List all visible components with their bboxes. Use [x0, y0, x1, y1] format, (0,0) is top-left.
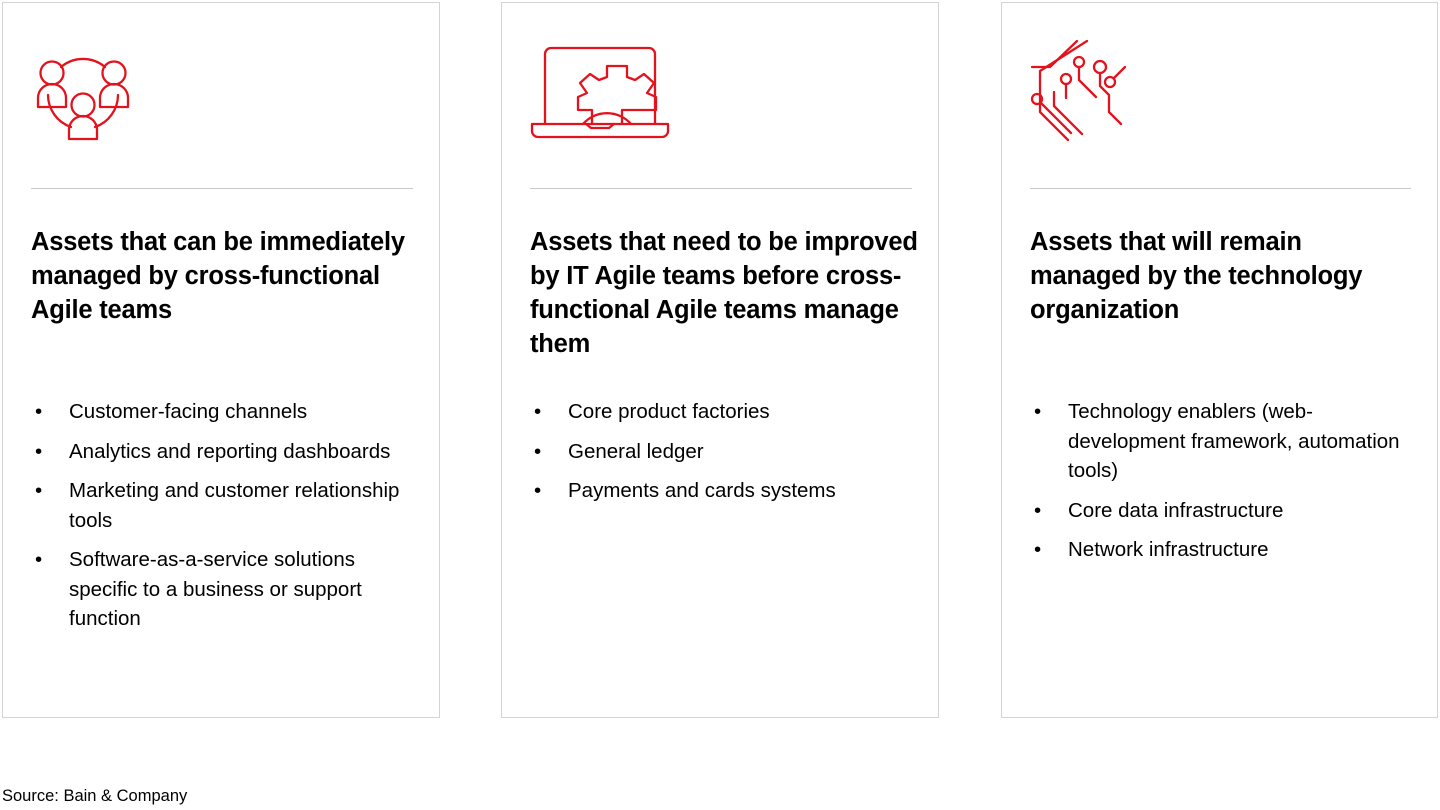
- three-column-card-board: Assets that can be immediately managed b…: [0, 0, 1440, 810]
- card-3-divider: [1030, 188, 1411, 189]
- bullet-marker-icon: •: [1034, 397, 1041, 427]
- list-item: • Customer-facing channels: [31, 397, 421, 427]
- card-2-heading: Assets that need to be improved by IT Ag…: [530, 225, 918, 361]
- circuit-board-icon: [1030, 33, 1134, 151]
- card-2-divider: [530, 188, 912, 189]
- list-item-text: Technology enablers (web-development fra…: [1068, 400, 1400, 482]
- source-note: Source: Bain & Company: [2, 786, 187, 806]
- bullet-marker-icon: •: [35, 545, 42, 575]
- bullet-marker-icon: •: [35, 397, 42, 427]
- list-item: • Technology enablers (web-development f…: [1030, 397, 1419, 486]
- card-1-content: Assets that can be immediately managed b…: [31, 3, 413, 717]
- card-2-bullet-list: • Core product factories • General ledge…: [530, 397, 920, 516]
- list-item-text: Customer-facing channels: [69, 400, 307, 423]
- bullet-marker-icon: •: [35, 437, 42, 467]
- list-item-text: Network infrastructure: [1068, 538, 1269, 561]
- list-item: • Payments and cards systems: [530, 476, 920, 506]
- list-item: • Analytics and reporting dashboards: [31, 437, 421, 467]
- list-item: • Core product factories: [530, 397, 920, 427]
- card-1-divider: [31, 188, 413, 189]
- card-1-bullet-list: • Customer-facing channels • Analytics a…: [31, 397, 421, 644]
- card-2-content: Assets that need to be improved by IT Ag…: [530, 3, 912, 717]
- card-column-3: Assets that will remain managed by the t…: [1001, 2, 1438, 718]
- card-3-content: Assets that will remain managed by the t…: [1030, 3, 1411, 717]
- list-item-text: Marketing and customer relationship tool…: [69, 479, 399, 532]
- people-network-icon: [31, 33, 135, 151]
- bullet-marker-icon: •: [534, 476, 541, 506]
- list-item-text: Payments and cards systems: [568, 479, 836, 502]
- list-item: • Network infrastructure: [1030, 535, 1419, 565]
- card-1-heading: Assets that can be immediately managed b…: [31, 225, 419, 327]
- list-item-text: General ledger: [568, 440, 704, 463]
- bullet-marker-icon: •: [1034, 535, 1041, 565]
- list-item-text: Core data infrastructure: [1068, 499, 1283, 522]
- list-item: • Software-as-a-service solutions specif…: [31, 545, 421, 634]
- card-column-1: Assets that can be immediately managed b…: [2, 2, 440, 718]
- list-item-text: Software-as-a-service solutions specific…: [69, 548, 362, 630]
- list-item-text: Analytics and reporting dashboards: [69, 440, 390, 463]
- bullet-marker-icon: •: [35, 476, 42, 506]
- card-3-bullet-list: • Technology enablers (web-development f…: [1030, 397, 1419, 575]
- bullet-marker-icon: •: [1034, 496, 1041, 526]
- list-item: • Marketing and customer relationship to…: [31, 476, 421, 535]
- bullet-marker-icon: •: [534, 437, 541, 467]
- card-column-2: Assets that need to be improved by IT Ag…: [501, 2, 939, 718]
- laptop-gear-icon: [530, 33, 670, 151]
- bullet-marker-icon: •: [534, 397, 541, 427]
- list-item-text: Core product factories: [568, 400, 770, 423]
- card-3-heading: Assets that will remain managed by the t…: [1030, 225, 1417, 327]
- list-item: • Core data infrastructure: [1030, 496, 1419, 526]
- list-item: • General ledger: [530, 437, 920, 467]
